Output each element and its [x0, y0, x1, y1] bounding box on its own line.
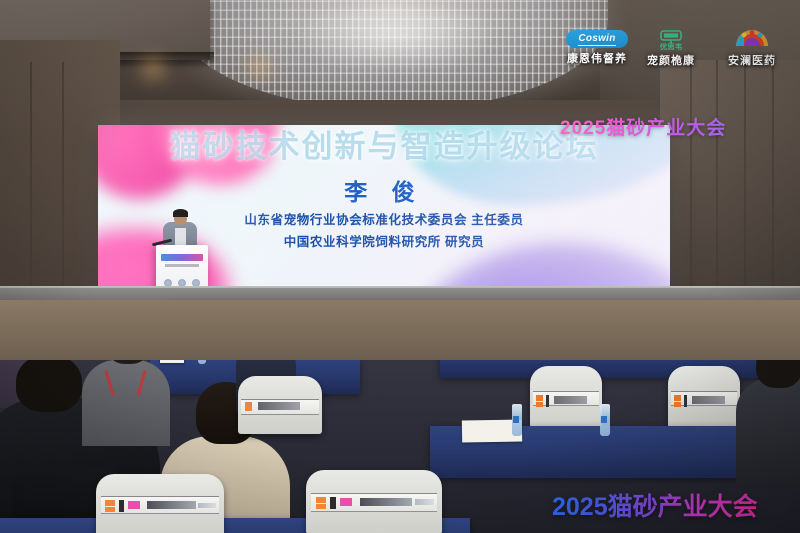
- water-bottle: [512, 404, 522, 436]
- sponsor-cn-name: 安澜医药: [708, 52, 796, 68]
- wall-light-glow: [138, 56, 168, 80]
- podium-subtitle-bar: [165, 264, 199, 267]
- colorful-fan-icon: [730, 30, 774, 50]
- sponsor-anlan: 安澜医药: [708, 30, 796, 68]
- event-watermark-top: 2025猫砂产业大会: [560, 113, 726, 140]
- water-bottle: [600, 404, 610, 436]
- wall-slat: [30, 62, 32, 290]
- event-watermark-bottom: 2025猫砂产业大会: [552, 487, 758, 523]
- right-wall: [660, 60, 800, 300]
- covered-chair: [306, 470, 442, 533]
- covered-chair: [96, 474, 224, 533]
- covered-chair: [530, 366, 602, 428]
- sponsor-logo-text: Coswin: [578, 33, 615, 46]
- green-shield-icon: 优思韦: [651, 30, 691, 50]
- conference-photo-scene: 猫砂技术创新与智造升级论坛 李 俊 山东省宠物行业协会标准化技术委员会 主任委员…: [0, 0, 800, 533]
- wall-light-glow: [246, 56, 272, 78]
- wall-slat: [62, 62, 64, 290]
- sponsor-chongyan: 优思韦 宠颜桅康: [636, 30, 706, 68]
- wall-slat: [772, 60, 774, 300]
- podium-event-logo: [161, 254, 203, 261]
- floor: [0, 300, 800, 360]
- chandelier-glow: [300, 0, 490, 70]
- covered-chair: [238, 376, 322, 434]
- wall-slat: [744, 60, 746, 300]
- sponsor-logo-bar: Coswin 康恩伟督养 优思韦 宠颜桅康: [556, 30, 800, 78]
- pill-capsule-icon: Coswin: [566, 30, 628, 48]
- sponsor-coswin: Coswin 康恩伟督养: [560, 30, 634, 66]
- covered-chair: [668, 366, 740, 428]
- wall-slat: [690, 60, 692, 300]
- svg-text:优思韦: 优思韦: [660, 41, 683, 50]
- speaker-hair: [173, 209, 188, 217]
- sponsor-cn-name: 宠颜桅康: [636, 52, 706, 68]
- sponsor-cn-name: 康恩伟督养: [560, 50, 634, 66]
- speaker-shirt: [175, 228, 186, 246]
- wall-slat: [716, 60, 718, 300]
